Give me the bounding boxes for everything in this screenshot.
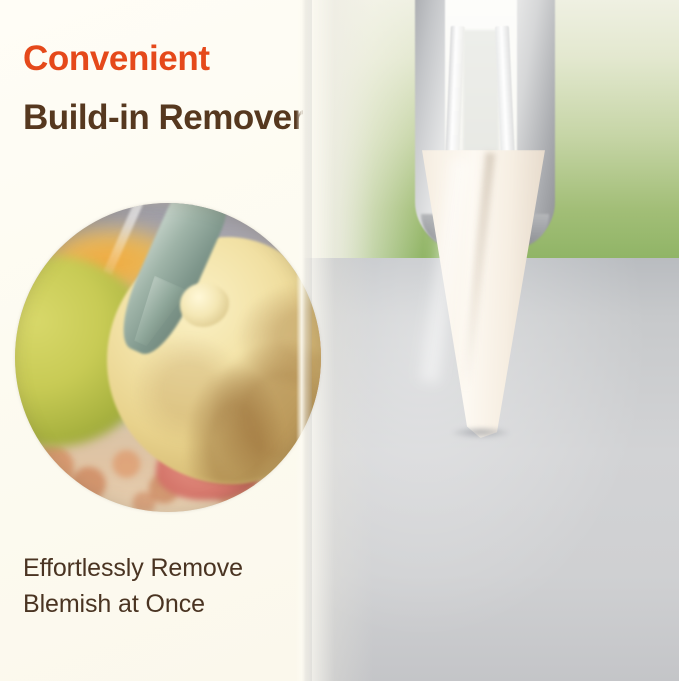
headline-secondary: Build-in Remover <box>23 97 303 138</box>
caption-line-2: Blemish at Once <box>23 587 303 623</box>
headline-primary: Convenient <box>23 38 303 79</box>
product-feature-banner: Convenient Build-in Remover Effortlessly… <box>0 0 679 681</box>
inset-scene <box>15 203 321 512</box>
headline-block: Convenient Build-in Remover <box>23 38 303 139</box>
inset-circle-photo <box>15 203 321 512</box>
caption-block: Effortlessly Remove Blemish at Once <box>23 551 303 622</box>
remover-tip-contact-shadow <box>453 428 509 438</box>
right-product-photo-panel <box>303 0 679 681</box>
caption-line-1: Effortlessly Remove <box>23 551 303 587</box>
